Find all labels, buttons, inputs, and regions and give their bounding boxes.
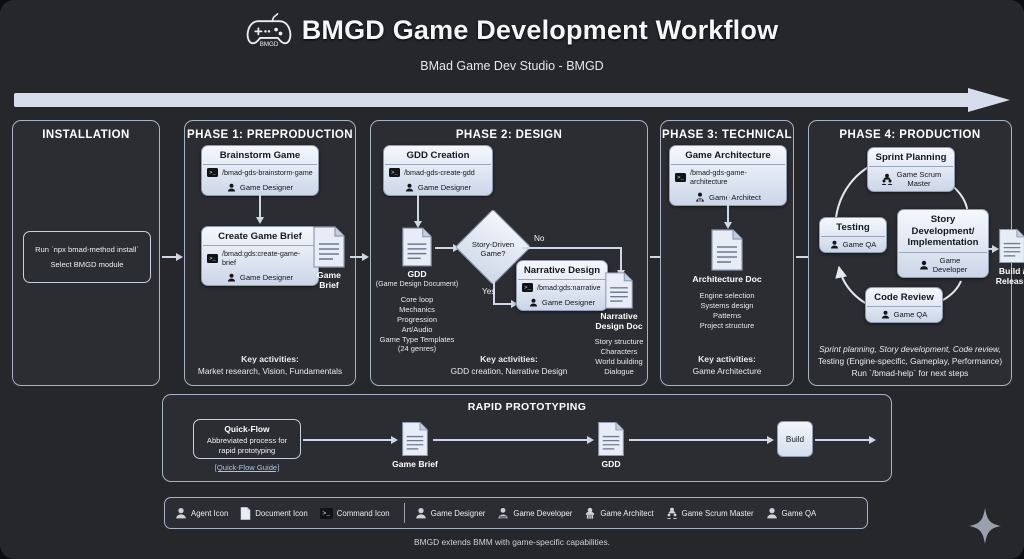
svg-text:BMGD: BMGD	[259, 41, 278, 48]
rapid-doc-game-brief: Game Brief	[401, 421, 429, 462]
card-title: Testing	[820, 218, 886, 236]
card-agent-row: Game Scrum Master	[868, 167, 954, 191]
game-designer-icon	[415, 507, 427, 519]
quick-flow-title: Quick-Flow	[194, 424, 300, 434]
connector-gdd-to-decision	[435, 247, 455, 249]
agent-icon	[227, 273, 236, 282]
card-title: Narrative Design	[517, 261, 607, 279]
legend-item-game-scrum-master: Game Scrum Master	[666, 507, 754, 519]
panel-phase-2: PHASE 2: DESIGN GDD Creation >_ /bmad-gd…	[370, 120, 648, 386]
doc-gdd: GDD (Game Design Document) Core loop Mec…	[401, 227, 433, 272]
phase2-title: PHASE 2: DESIGN	[371, 129, 647, 141]
legend-item-game-architect: Game Architect	[584, 507, 653, 519]
card-title: Create Game Brief	[202, 227, 318, 245]
doc-label: GDD	[407, 269, 426, 279]
card-title: GDD Creation	[384, 146, 492, 164]
game-scrum-master-icon	[666, 507, 678, 519]
game-developer-icon	[497, 507, 509, 519]
footer-note: BMGD extends BMM with game-specific capa…	[0, 537, 1024, 547]
arrow-qf-to-brief	[391, 436, 398, 444]
legend-item-command: >_ Command Icon	[320, 508, 390, 519]
command-icon: >_	[522, 283, 533, 292]
phase1-key-activities: Key activities: Market research, Vision,…	[185, 354, 355, 377]
doc-label: Game Brief	[392, 459, 438, 469]
command-icon: >_	[675, 173, 686, 182]
card-command-row: >_ /bmad:gds:create-game-brief	[202, 246, 318, 270]
legend-item-game-qa: Game QA	[766, 507, 817, 519]
phase3-title: PHASE 3: TECHNICAL	[661, 129, 793, 141]
document-icon	[401, 227, 433, 267]
arrow-gdd-to-build	[767, 436, 774, 444]
card-testing[interactable]: Testing Game QA	[819, 217, 887, 253]
card-sprint-planning[interactable]: Sprint Planning Game Scrum Master	[867, 147, 955, 192]
legend-label: Command Icon	[337, 509, 390, 518]
agent-icon	[405, 183, 414, 192]
connector-brainstorm-to-brief	[259, 192, 261, 219]
key-label: Key activities:	[371, 354, 647, 366]
decision-label: Story-Driven Game?	[458, 240, 528, 259]
key-text: GDD creation, Narrative Design	[451, 366, 568, 376]
connector-gdd-card-to-doc	[417, 192, 419, 223]
card-command: /bmad-gds-create-gdd	[404, 168, 475, 177]
card-story-development[interactable]: Story Development/ Implementation Game D…	[897, 209, 989, 278]
card-title: Code Review	[866, 288, 942, 306]
document-icon	[710, 229, 744, 271]
card-agent: Game Architect	[709, 193, 761, 202]
legend-label: Game QA	[782, 509, 817, 518]
quick-flow-box: Quick-Flow Abbreviated process for rapid…	[193, 419, 301, 459]
page-subtitle: BMad Game Dev Studio - BMGD	[0, 59, 1024, 73]
panel-phase-3: PHASE 3: TECHNICAL Game Architecture >_ …	[660, 120, 794, 386]
panel-installation: INSTALLATION Run `npx bmad-method instal…	[12, 120, 160, 386]
card-agent: Game Designer	[240, 183, 293, 192]
game-architect-icon	[584, 507, 596, 519]
card-agent: Game Designer	[418, 183, 471, 192]
card-agent-row: Game QA	[820, 237, 886, 252]
card-agent-row: Game Designer	[517, 295, 607, 310]
doc-label: GDD	[601, 459, 620, 469]
install-step: Select BMGD module	[50, 260, 123, 269]
command-icon: >_	[320, 508, 333, 519]
doc-sublabel: (Game Design Document)	[376, 280, 458, 289]
label-yes: Yes	[482, 287, 495, 296]
card-code-review[interactable]: Code Review Game QA	[865, 287, 943, 323]
install-command: Run `npx bmad-method install`	[35, 245, 139, 254]
quick-flow-guide-link[interactable]: [Quick-Flow Guide]	[193, 463, 301, 472]
card-agent-row: Game Designer	[384, 180, 492, 195]
card-command-row: >_ /bmad-gds-create-gdd	[384, 165, 492, 180]
flow-direction-arrow	[14, 89, 1010, 111]
agent-icon	[227, 183, 236, 192]
build-label: Build	[786, 435, 804, 444]
workflow-diagram: BMGD BMGD Game Development Workflow BMad…	[0, 0, 1024, 559]
command-icon: >_	[389, 168, 400, 177]
game-scrum-master-icon	[881, 173, 893, 185]
card-create-game-brief[interactable]: Create Game Brief >_ /bmad:gds:create-ga…	[201, 226, 319, 286]
connector-qf-to-brief	[303, 439, 395, 441]
connector-brief-to-gdd	[433, 439, 591, 441]
legend-label: Game Designer	[431, 509, 486, 518]
quick-flow-sub: Abbreviated process for rapid prototypin…	[194, 436, 300, 456]
document-icon	[401, 421, 429, 457]
card-gdd-creation[interactable]: GDD Creation >_ /bmad-gds-create-gdd Gam…	[383, 145, 493, 196]
doc-label: Narrative Design Doc	[595, 311, 642, 332]
doc-build-release: Build / Release	[998, 228, 1024, 269]
key-text: Game Architecture	[693, 366, 762, 376]
panel-phase-4: PHASE 4: PRODUCTION Sprint Planning	[808, 120, 1012, 386]
arrow-install-to-phase1	[176, 253, 183, 261]
phase2-key-activities: Key activities: GDD creation, Narrative …	[371, 354, 647, 377]
card-command: /bmad-gds-brainstorm-game	[222, 168, 313, 177]
card-agent: Game QA	[894, 310, 928, 319]
page-title: BMGD Game Development Workflow	[302, 15, 779, 46]
game-qa-icon	[881, 310, 890, 319]
header: BMGD BMGD Game Development Workflow BMad…	[0, 10, 1024, 73]
card-agent-row: Game QA	[866, 307, 942, 322]
card-title: Game Architecture	[670, 146, 786, 164]
document-icon	[604, 272, 634, 309]
legend-label: Agent Icon	[191, 509, 228, 518]
key-text: Market research, Vision, Fundamentals	[198, 366, 342, 376]
doc-label: Architecture Doc	[692, 274, 761, 284]
connector-gdd-to-build	[629, 439, 771, 441]
doc-game-brief: Game Brief	[312, 226, 346, 273]
card-command-row: >_ /bmad-gds-brainstorm-game	[202, 165, 318, 180]
game-developer-icon	[919, 260, 929, 270]
branch-yes-horizontal	[493, 303, 513, 305]
card-title: Story Development/ Implementation	[898, 210, 988, 252]
agent-icon	[529, 298, 538, 307]
arrow-build-to-end	[869, 436, 876, 444]
note-line-3: Run `/bmad-help` for next steps	[852, 368, 969, 378]
card-command: /bmad:gds:create-game-brief	[222, 249, 313, 267]
gamepad-icon: BMGD	[246, 10, 292, 50]
document-icon	[597, 421, 625, 457]
doc-label: Build / Release	[996, 266, 1024, 287]
card-command: /bmad-gds-game-architecture	[690, 168, 781, 186]
card-narrative-design[interactable]: Narrative Design >_ /bmad:gds:narrative …	[516, 260, 608, 311]
legend-label: Game Developer	[513, 509, 572, 518]
rapid-doc-gdd: GDD	[597, 421, 625, 462]
agent-icon	[175, 507, 187, 519]
card-command: /bmad:gds:narrative	[537, 283, 601, 292]
command-icon: >_	[207, 168, 218, 177]
legend-label: Document Icon	[255, 509, 307, 518]
doc-label: Game Brief	[317, 270, 341, 291]
branch-no-horizontal	[522, 247, 622, 249]
arrow-brainstorm-to-brief	[256, 217, 264, 224]
card-title: Sprint Planning	[868, 148, 954, 166]
arrow-brief-to-gdd	[587, 436, 594, 444]
key-label: Key activities:	[185, 354, 355, 366]
installation-title: INSTALLATION	[13, 129, 159, 141]
doc-narrative-design: Narrative Design Doc Story structure Cha…	[604, 272, 634, 314]
rapid-title: RAPID PROTOTYPING	[163, 401, 891, 413]
card-agent-row: Game Developer	[898, 253, 988, 277]
legend-item-document: Document Icon	[240, 507, 307, 520]
card-agent: Game QA	[843, 240, 877, 249]
installation-box: Run `npx bmad-method install` Select BMG…	[23, 231, 151, 283]
label-no: No	[534, 234, 544, 243]
legend-divider	[404, 503, 405, 523]
game-qa-icon	[766, 507, 778, 519]
legend-label: Game Scrum Master	[682, 509, 754, 518]
connector-build-to-end	[815, 439, 873, 441]
command-icon: >_	[207, 254, 218, 263]
document-icon	[240, 507, 251, 520]
card-agent: Game Designer	[240, 273, 293, 282]
doc-details: Engine selection Systems design Patterns…	[699, 291, 754, 331]
legend-label: Game Architect	[600, 509, 653, 518]
legend-item-game-developer: Game Developer	[497, 507, 572, 519]
document-icon	[998, 228, 1024, 264]
note-line-1: Sprint planning, Story development, Code…	[819, 344, 1001, 354]
card-agent: Game Scrum Master	[897, 170, 942, 188]
card-agent-row: Game Designer	[202, 270, 318, 285]
doc-details: Core loop Mechanics Progression Art/Audi…	[380, 295, 455, 354]
key-label: Key activities:	[661, 354, 793, 366]
card-brainstorm-game[interactable]: Brainstorm Game >_ /bmad-gds-brainstorm-…	[201, 145, 319, 196]
game-architect-icon	[695, 192, 705, 202]
branch-no-vertical	[620, 247, 622, 272]
card-title: Brainstorm Game	[202, 146, 318, 164]
card-command-row: >_ /bmad-gds-game-architecture	[670, 165, 786, 189]
card-agent: Game Designer	[542, 298, 595, 307]
phase3-key-activities: Key activities: Game Architecture	[661, 354, 793, 377]
legend-item-agent: Agent Icon	[175, 507, 228, 519]
legend-item-game-designer: Game Designer	[415, 507, 486, 519]
doc-architecture: Architecture Doc Engine selection System…	[710, 229, 744, 276]
document-icon	[312, 226, 346, 268]
rapid-build-box: Build	[777, 421, 813, 457]
game-qa-icon	[830, 240, 839, 249]
legend-bar: Agent Icon Document Icon >_ Command Icon…	[164, 497, 868, 529]
card-agent: Game Developer	[933, 256, 968, 274]
sparkle-icon	[968, 507, 1002, 545]
phase4-notes: Sprint planning, Story development, Code…	[809, 343, 1011, 379]
connector-arch-card-to-doc	[727, 192, 729, 224]
arrow-brief-to-phase2	[362, 253, 369, 261]
phase1-title: PHASE 1: PREPRODUCTION	[185, 129, 355, 141]
note-line-2: Testing (Engine-specific, Gameplay, Perf…	[818, 356, 1002, 366]
arrow-arch-card-to-doc	[724, 222, 732, 229]
panel-rapid-prototyping: RAPID PROTOTYPING Quick-Flow Abbreviated…	[162, 394, 892, 482]
card-command-row: >_ /bmad:gds:narrative	[517, 280, 607, 295]
